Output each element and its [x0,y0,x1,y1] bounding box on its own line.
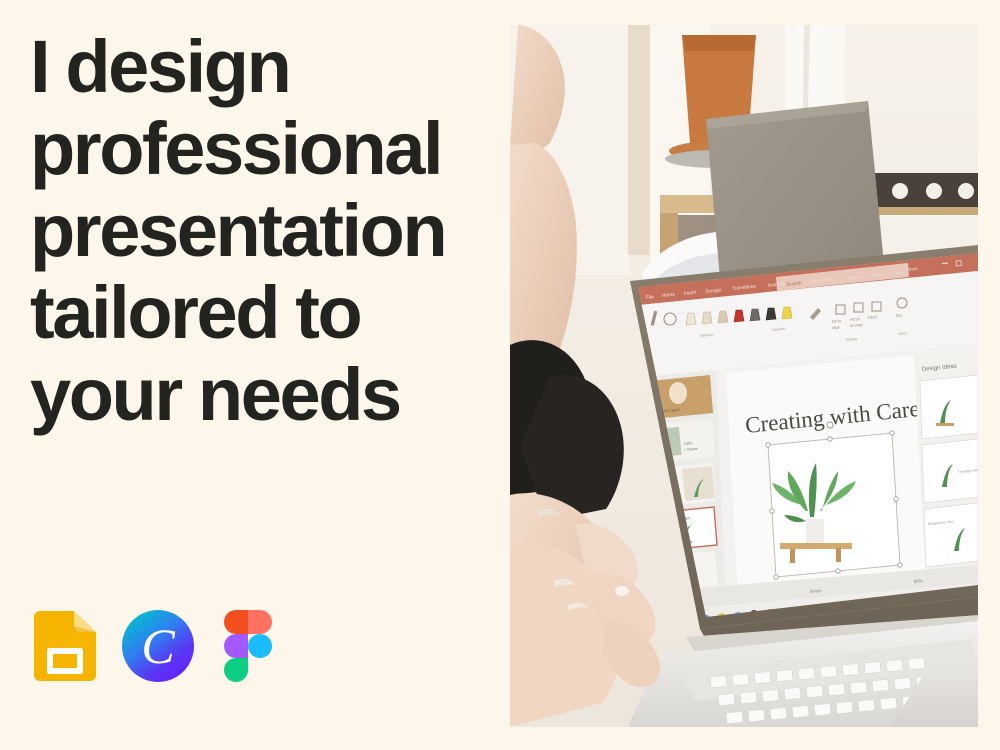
svg-text:Dict: Dict [896,313,903,318]
canva-icon: C [122,610,194,682]
svg-text:Align: Align [832,325,840,330]
hero-photo: File Home Insert Design Transitions Anim… [510,25,978,727]
svg-text:Insert: Insert [684,290,698,297]
headline-line-5: your needs [30,354,500,436]
svg-text:C: C [141,618,175,674]
svg-text:68%: 68% [914,578,923,584]
google-slides-icon [34,611,96,681]
headline-line-4: tailored to [30,272,500,354]
figma-icon [220,610,276,682]
headline-line-1: I design [30,26,500,108]
svg-text:File: File [646,294,655,301]
headline-line-3: presentation [30,190,500,272]
page-title: I design professional presentation tailo… [30,26,500,436]
headline-line-2: professional [30,108,500,190]
svg-text:Calm: Calm [684,440,694,446]
left-content-panel: I design professional presentation tailo… [0,0,510,750]
tool-logo-row: C [34,610,276,682]
svg-text:Voice: Voice [898,331,907,336]
